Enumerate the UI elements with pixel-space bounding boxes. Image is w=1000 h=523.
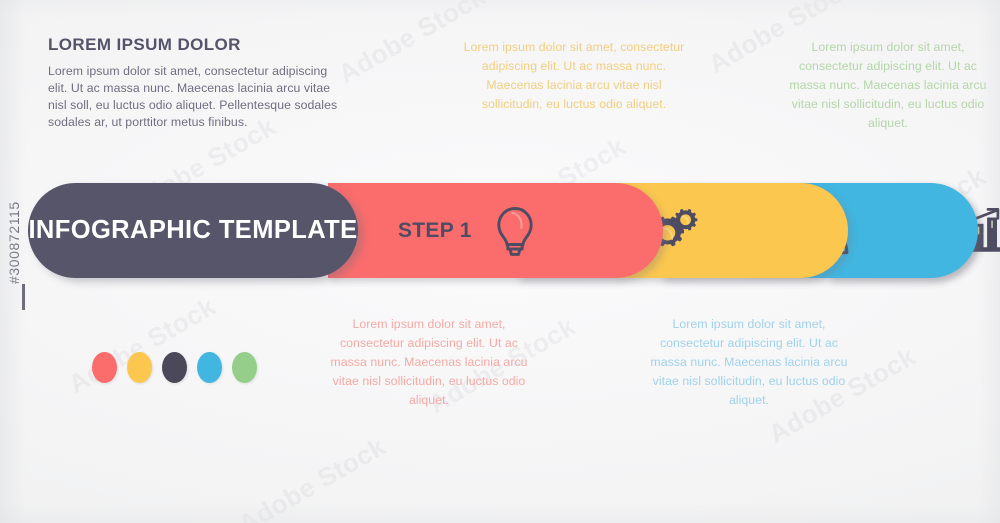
lightbulb-icon bbox=[488, 202, 542, 260]
note-step2: Lorem ipsum dolor sit amet, consectetur … bbox=[462, 38, 686, 114]
swatch-yellow[interactable] bbox=[127, 352, 152, 383]
asset-id-underline bbox=[22, 284, 25, 310]
watermark-tile: Adobe Stock bbox=[233, 431, 391, 523]
headline-body-text: Lorem ipsum dolor sit amet, consectetur … bbox=[48, 63, 348, 132]
swatch-green[interactable] bbox=[232, 352, 257, 383]
infographic-canvas: Adobe Stock Adobe Stock Adobe Stock Adob… bbox=[0, 0, 1000, 523]
step-segment-1[interactable]: STEP 1 bbox=[328, 183, 663, 278]
color-palette bbox=[92, 352, 257, 383]
step-bar: STEP 4 bbox=[28, 183, 976, 278]
swatch-blue[interactable] bbox=[197, 352, 222, 383]
note-step4: Lorem ipsum dolor sit amet, consectetur … bbox=[782, 38, 994, 133]
swatch-red[interactable] bbox=[92, 352, 117, 383]
headline-block: LOREM IPSUM DOLOR Lorem ipsum dolor sit … bbox=[48, 36, 348, 132]
step-label-1: STEP 1 bbox=[398, 219, 472, 243]
page-title: LOREM IPSUM DOLOR bbox=[48, 36, 348, 55]
infographic-title-panel[interactable]: INFOGRAPHIC TEMPLATE bbox=[28, 183, 358, 278]
watermark-tile: Adobe Stock bbox=[63, 291, 221, 400]
note-step1: Lorem ipsum dolor sit amet, consectetur … bbox=[326, 315, 532, 410]
infographic-title: INFOGRAPHIC TEMPLATE bbox=[28, 216, 357, 245]
asset-id-watermark: #300872115 bbox=[6, 201, 22, 284]
swatch-navy[interactable] bbox=[162, 352, 187, 383]
note-step3: Lorem ipsum dolor sit amet, consectetur … bbox=[646, 315, 852, 410]
